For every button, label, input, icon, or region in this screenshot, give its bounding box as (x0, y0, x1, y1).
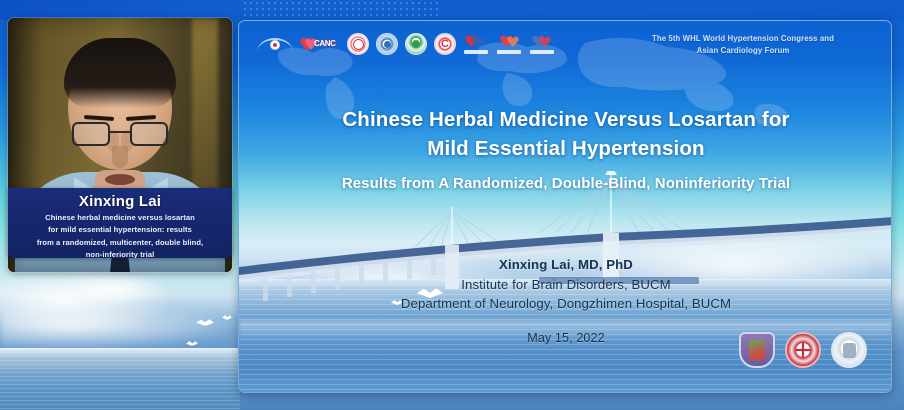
slide-title-line-2: Mild Essential Hypertension (279, 134, 853, 163)
green-circle-logo (405, 33, 427, 55)
hospital-red-emblem (785, 332, 821, 368)
background-dot-texture (242, 0, 442, 18)
conference-name: The 5th WHL World Hypertension Congress … (613, 33, 873, 56)
background-top-band (0, 0, 904, 20)
slide-title-line-1: Chinese Herbal Medicine Versus Losartan … (279, 105, 853, 134)
participant-talk-line-2: for mild essential hypertension: results (14, 225, 226, 235)
whl-arc-logo (257, 34, 293, 54)
slide-affiliation-1: Institute for Brain Disorders, BUCM (279, 275, 853, 295)
participant-talk-line-3: from a randomized, multicenter, double b… (14, 238, 226, 248)
slide-title: Chinese Herbal Medicine Versus Losartan … (279, 105, 853, 163)
participant-nameplate: Xinxing Lai Chinese herbal medicine vers… (8, 188, 232, 258)
background-sea (0, 348, 240, 410)
participant-talk-line-1: Chinese herbal medicine versus losartan (14, 213, 226, 223)
dual-heart-logo-3 (529, 34, 555, 54)
institute-silver-emblem (831, 332, 867, 368)
conference-name-line-2: Asian Cardiology Forum (613, 45, 873, 57)
slide-author-name: Xinxing Lai, MD, PhD (279, 255, 853, 275)
slide-author-block: Xinxing Lai, MD, PhD Institute for Brain… (279, 255, 853, 314)
blue-circle-logo (376, 33, 398, 55)
canc-heart-logo: CANC (300, 34, 340, 54)
dual-heart-logo-2 (496, 34, 522, 54)
conference-logo-strip: CANC (257, 33, 555, 55)
red-cross-circle-logo (347, 33, 369, 55)
background-cloud (0, 300, 240, 352)
video-conference-stage: Xinxing Lai Chinese herbal medicine vers… (0, 0, 904, 410)
slide-subtitle: Results from A Randomized, Double-Blind,… (279, 173, 853, 195)
slide-footer-emblems (739, 332, 867, 368)
shared-slide-panel[interactable]: CANC The 5th WHL World Hypertension Cong… (238, 20, 892, 393)
dual-heart-logo-1 (463, 34, 489, 54)
participant-talk-line-4: non-inferiority trial (14, 250, 226, 258)
conference-name-line-1: The 5th WHL World Hypertension Congress … (613, 33, 873, 45)
slide-affiliation-2: Department of Neurology, Dongzhimen Hosp… (279, 294, 853, 314)
university-shield-emblem (739, 332, 775, 368)
red-c-circle-logo (434, 33, 456, 55)
participant-name: Xinxing Lai (14, 193, 226, 211)
